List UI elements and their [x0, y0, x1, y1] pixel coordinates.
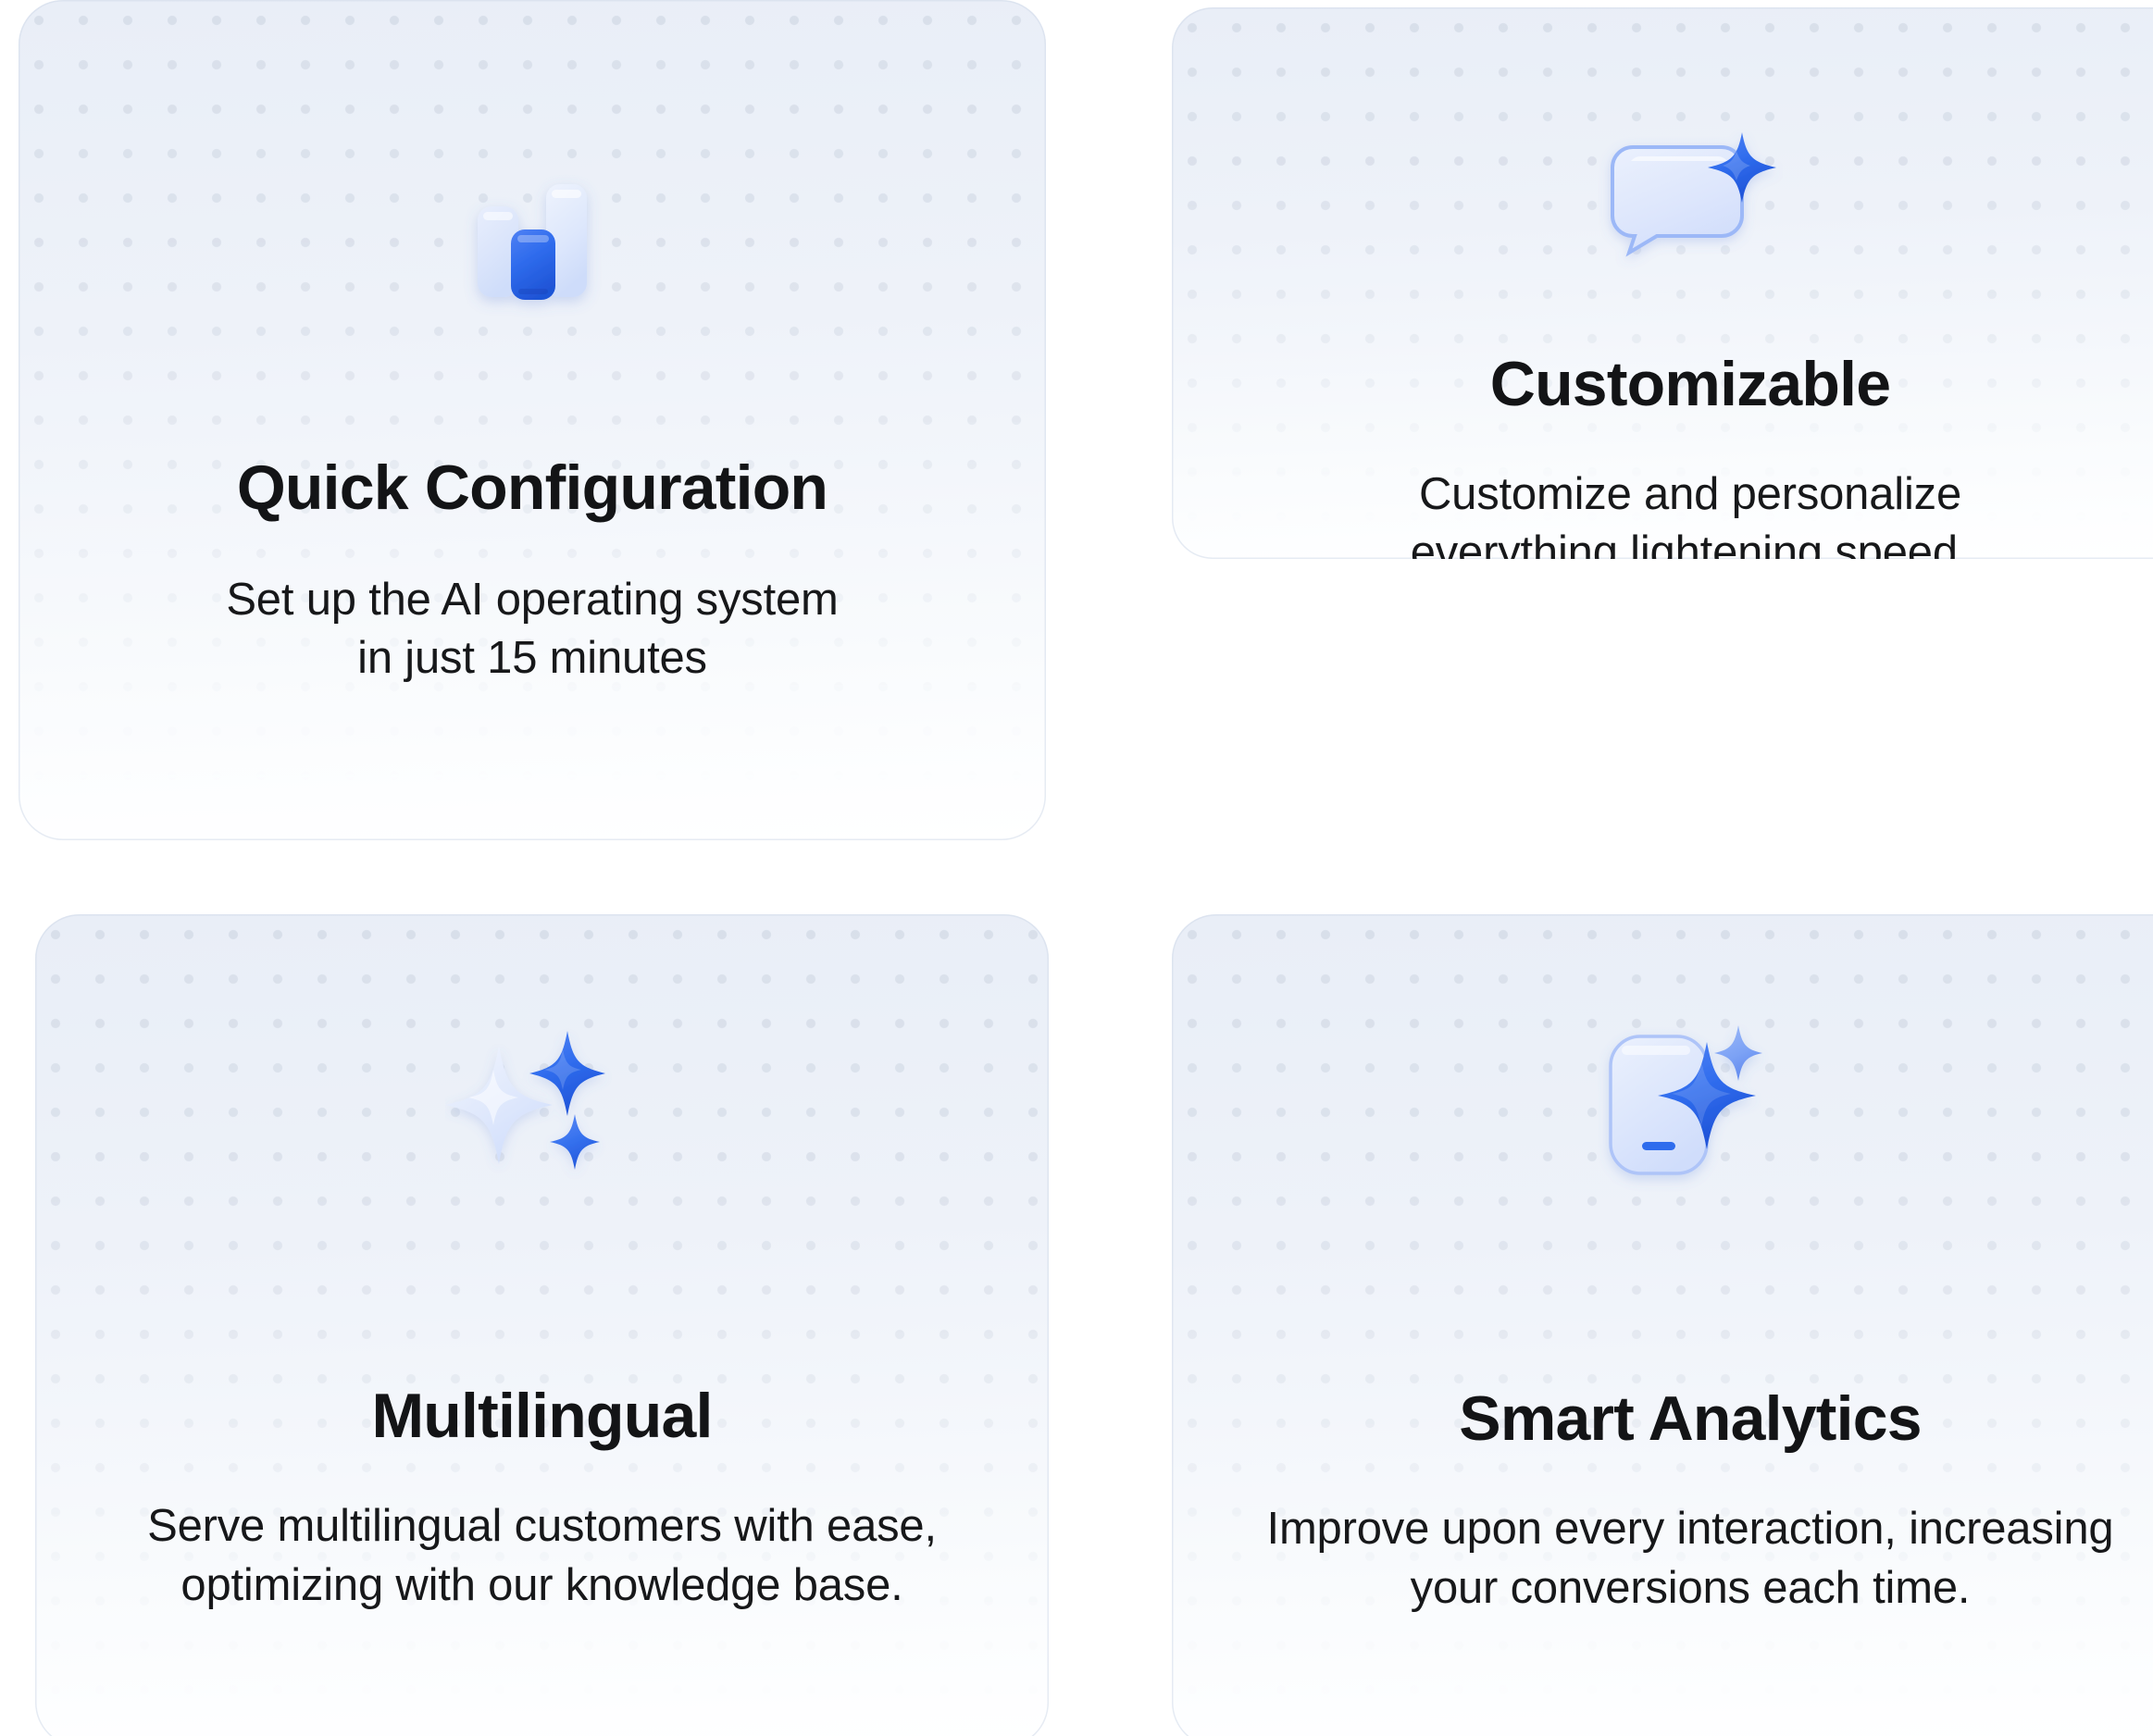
feature-card-multilingual[interactable]: Multilingual Serve multilingual customer… [35, 914, 1049, 1736]
sparkles-icon [445, 1025, 640, 1187]
chat-bubble-sparkle-icon [1598, 128, 1783, 267]
card-description-line: in just 15 minutes [226, 629, 838, 688]
feature-card-smart-analytics[interactable]: Smart Analytics Improve upon every inter… [1172, 914, 2153, 1736]
bar-chart-icon [444, 163, 620, 339]
card-description: Serve multilingual customers with ease, … [147, 1497, 937, 1615]
card-title: Customizable [1490, 352, 1890, 417]
card-title: Quick Configuration [237, 455, 828, 521]
card-title: Multilingual [371, 1383, 712, 1449]
card-description-line: everything lightening speed. [1411, 524, 1971, 559]
card-description-line: Serve multilingual customers with ease, [147, 1497, 937, 1556]
feature-card-grid: Quick Configuration Set up the AI operat… [0, 0, 2153, 1736]
card-description: Set up the AI operating system in just 1… [226, 571, 838, 687]
feature-card-quick-configuration[interactable]: Quick Configuration Set up the AI operat… [19, 0, 1046, 840]
card-title: Smart Analytics [1459, 1386, 1921, 1452]
feature-card-customizable[interactable]: Customizable Customize and personalize e… [1172, 7, 2153, 559]
card-description-line: Customize and personalize [1411, 465, 1971, 524]
card-description: Improve upon every interaction, increasi… [1267, 1500, 2114, 1618]
card-description-line: Improve upon every interaction, increasi… [1267, 1500, 2114, 1559]
device-sparkle-icon [1598, 1016, 1783, 1192]
card-description-line: Set up the AI operating system [226, 571, 838, 629]
card-description-line: optimizing with our knowledge base. [147, 1556, 937, 1616]
card-description-line: your conversions each time. [1267, 1559, 2114, 1618]
card-description: Customize and personalize everything lig… [1411, 465, 1971, 559]
